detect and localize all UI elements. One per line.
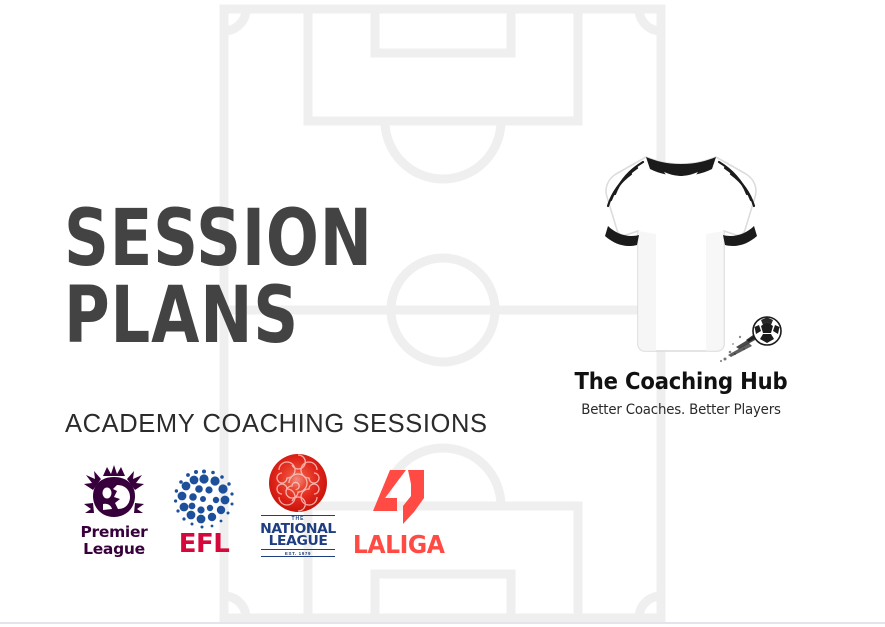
brand-name: The Coaching Hub	[566, 371, 796, 394]
premier-league-label: Premier League	[80, 524, 147, 557]
premier-league-label-line1: Premier	[80, 524, 147, 540]
national-league-label-line2: LEAGUE	[260, 535, 336, 548]
laliga-label: LALIGA	[353, 532, 445, 557]
headline-line-session: SESSION	[64, 206, 373, 273]
brand-block: The Coaching Hub Better Coaches. Better …	[556, 148, 806, 418]
league-logo-efl: EFL	[168, 468, 240, 557]
bottom-divider	[0, 622, 885, 624]
page-subtitle: ACADEMY COACHING SESSIONS	[65, 410, 488, 439]
national-league-rose-icon	[265, 452, 331, 514]
league-logo-strip: Premier League	[78, 452, 442, 557]
league-logo-premier-league: Premier League	[78, 463, 150, 557]
efl-label: EFL	[179, 531, 230, 557]
football-ball-motion-icon	[716, 316, 784, 368]
headline-line-plans: PLANS	[64, 283, 373, 350]
premier-league-label-line2: League	[80, 541, 147, 557]
national-league-label-est: EST. 1979	[261, 549, 335, 556]
premier-league-lion-icon	[83, 463, 145, 521]
laliga-mark-icon	[373, 468, 425, 526]
national-league-label: THE NATIONAL LEAGUE EST. 1979	[261, 515, 335, 557]
league-logo-national-league: THE NATIONAL LEAGUE EST. 1979	[258, 452, 338, 557]
page-title: SESSION PLANS	[64, 206, 450, 350]
league-logo-laliga: LALIGA	[356, 468, 442, 557]
efl-dots-icon	[173, 468, 235, 530]
session-plans-slide: SESSION PLANS ACADEMY COACHING SESSIONS	[0, 0, 885, 627]
brand-tagline: Better Coaches. Better Players	[566, 403, 796, 418]
